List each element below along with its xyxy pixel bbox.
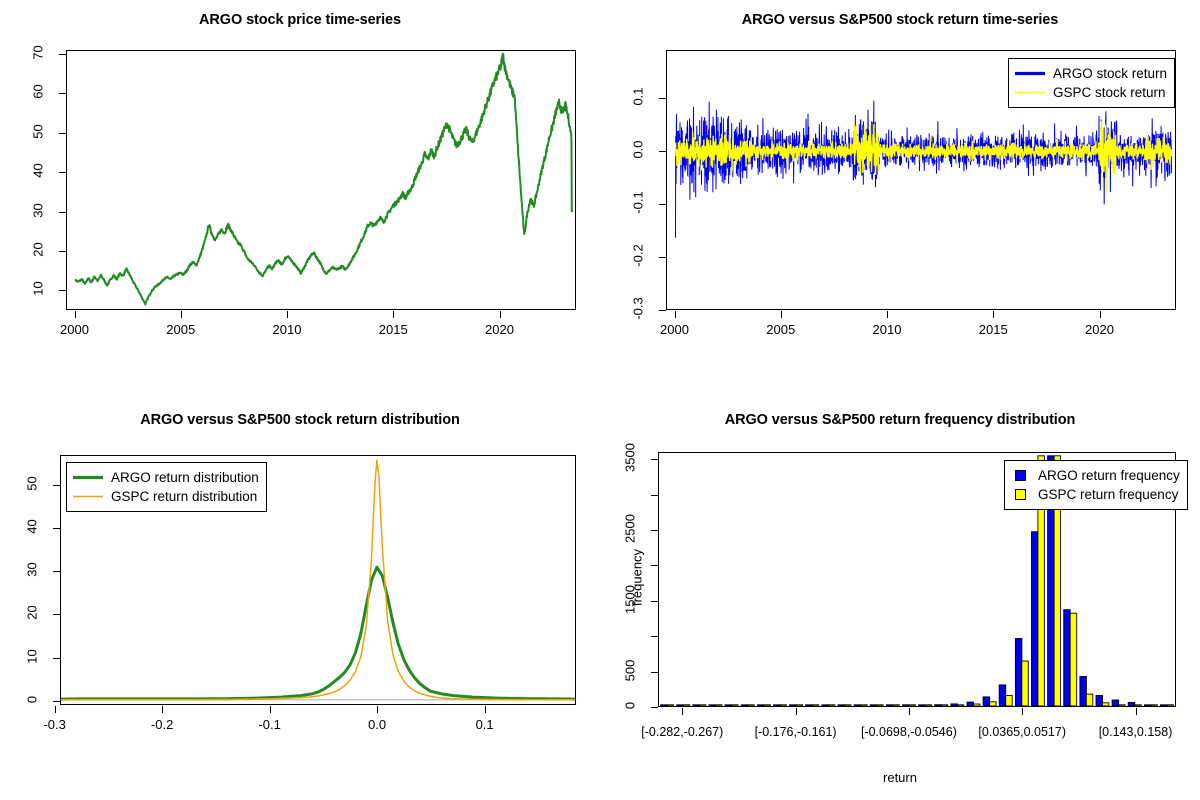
y-tick-mark [59,212,66,213]
x-tick-label: 2020 [440,322,560,337]
y-tick-label: 0 [25,679,40,719]
y-tick-label: 0 [623,686,638,726]
panel1-title: ARGO stock price time-series [0,12,600,28]
x-tick-label: 2005 [721,322,841,337]
x-tick-label: 2015 [333,322,453,337]
panel2-title: ARGO versus S&P500 stock return time-ser… [600,12,1200,28]
legend-label-argo-density: ARGO return distribution [111,470,259,485]
y-tick-label: 40 [31,151,46,191]
legend-label-gspc-frequency: GSPC return frequency [1038,487,1178,502]
y-tick-label: -0.2 [631,235,646,275]
x-tick-label: 2000 [615,322,735,337]
legend-label-gspc-return: GSPC stock return [1053,85,1166,100]
y-tick-label: 50 [31,111,46,151]
x-tick-mark [909,708,910,715]
y-tick-mark [59,290,66,291]
y-tick-mark [53,614,60,615]
x-tick-label: [0.0365,0.0517) [962,725,1082,739]
x-tick-label: [0.143,0.158) [1076,725,1196,739]
y-tick-mark [59,172,66,173]
argo-line-swatch-icon [1015,69,1045,78]
x-tick-mark [781,311,782,318]
argo-density-swatch-icon [73,473,103,482]
y-tick-mark [659,257,666,258]
x-tick-mark [287,311,288,318]
x-tick-label: 0.0 [317,717,437,732]
x-tick-label: 2020 [1040,322,1160,337]
x-tick-label: 2010 [227,322,347,337]
x-tick-mark [75,311,76,318]
panel-return-density: ARGO versus S&P500 stock return distribu… [0,400,600,800]
y-tick-mark [659,151,666,152]
y-tick-mark-minor [651,495,658,496]
y-tick-mark [651,530,658,531]
legend-item-gspc-frequency: GSPC return frequency [1011,485,1180,504]
x-tick-label: 2015 [933,322,1053,337]
x-tick-mark [1136,708,1137,715]
gspc-square-swatch-icon [1011,489,1029,500]
x-tick-mark [377,706,378,713]
x-tick-mark [887,311,888,318]
y-tick-mark [659,204,666,205]
y-tick-mark [651,459,658,460]
x-tick-mark [1100,311,1101,318]
y-tick-label: -0.1 [631,182,646,222]
y-tick-mark [659,98,666,99]
x-tick-mark [485,706,486,713]
panel4-title: ARGO versus S&P500 return frequency dist… [600,412,1200,428]
legend-item-argo-frequency: ARGO return frequency [1011,466,1180,485]
legend-item-gspc-return: GSPC stock return [1015,83,1167,102]
y-tick-mark [59,133,66,134]
y-tick-mark [53,485,60,486]
panel2-legend: ARGO stock return GSPC stock return [1008,58,1175,108]
x-tick-mark [162,706,163,713]
argo-square-swatch-icon [1011,470,1029,481]
x-tick-label: 2005 [121,322,241,337]
y-tick-label: 50 [25,464,40,504]
y-tick-mark [651,707,658,708]
y-tick-mark-minor [651,565,658,566]
x-tick-label: 0.1 [425,717,545,732]
y-tick-label: 10 [25,636,40,676]
x-tick-label: 2000 [15,322,135,337]
y-tick-mark [59,93,66,94]
x-tick-mark [1022,708,1023,715]
legend-item-argo-return: ARGO stock return [1015,64,1167,83]
panel1-plot-area [66,50,576,310]
y-tick-mark [53,658,60,659]
y-tick-label: 30 [25,550,40,590]
y-tick-label: 3500 [623,438,638,478]
legend-item-argo-density: ARGO return distribution [73,468,259,487]
y-tick-mark [59,54,66,55]
y-tick-label: 0.1 [631,76,646,116]
figure-grid: ARGO stock price time-series 10203040506… [0,0,1200,800]
gspc-line-swatch-icon [1015,88,1045,97]
panel4-y-axis-title: frequency [630,533,645,623]
x-tick-label: -0.3 [0,717,115,732]
x-tick-mark [993,311,994,318]
x-tick-label: 2010 [827,322,947,337]
x-tick-label: [-0.176,-0.161) [736,725,856,739]
x-tick-mark [682,708,683,715]
panel-return-timeseries: ARGO versus S&P500 stock return time-ser… [600,0,1200,400]
legend-label-argo-frequency: ARGO return frequency [1038,468,1180,483]
y-tick-mark [59,251,66,252]
x-tick-label: [-0.0698,-0.0546) [849,725,969,739]
panel-stock-price: ARGO stock price time-series 10203040506… [0,0,600,400]
y-tick-mark [659,310,666,311]
y-tick-label: 0.0 [631,129,646,169]
legend-label-argo-return: ARGO stock return [1053,66,1167,81]
x-tick-label: -0.2 [102,717,222,732]
y-tick-label: 10 [31,269,46,309]
panel1-line-chart [67,51,575,309]
panel-return-frequency: ARGO versus S&P500 return frequency dist… [600,400,1200,800]
y-tick-label: 30 [31,190,46,230]
x-tick-mark [675,311,676,318]
y-tick-label: 70 [31,32,46,72]
gspc-density-swatch-icon [73,492,103,501]
x-tick-mark [796,708,797,715]
x-tick-mark [393,311,394,318]
y-tick-mark [53,701,60,702]
panel3-title: ARGO versus S&P500 stock return distribu… [0,412,600,428]
x-tick-mark [270,706,271,713]
y-tick-mark [651,601,658,602]
x-tick-label: [-0.282,-0.267) [622,725,742,739]
y-tick-label: 60 [31,72,46,112]
legend-item-gspc-density: GSPC return distribution [73,487,259,506]
y-tick-label: 500 [623,650,638,690]
y-tick-mark-minor [651,636,658,637]
y-tick-label: 20 [31,229,46,269]
x-tick-mark [181,311,182,318]
panel4-x-axis-title: return [600,770,1200,785]
x-tick-label: -0.1 [210,717,330,732]
legend-label-gspc-density: GSPC return distribution [111,489,257,504]
y-tick-mark [651,672,658,673]
panel4-legend: ARGO return frequency GSPC return freque… [1004,460,1188,510]
panel3-legend: ARGO return distribution GSPC return dis… [66,462,267,512]
y-tick-label: 40 [25,507,40,547]
y-tick-mark [53,528,60,529]
x-tick-mark [55,706,56,713]
x-tick-mark [500,311,501,318]
y-tick-mark [53,571,60,572]
y-tick-label: 20 [25,593,40,633]
